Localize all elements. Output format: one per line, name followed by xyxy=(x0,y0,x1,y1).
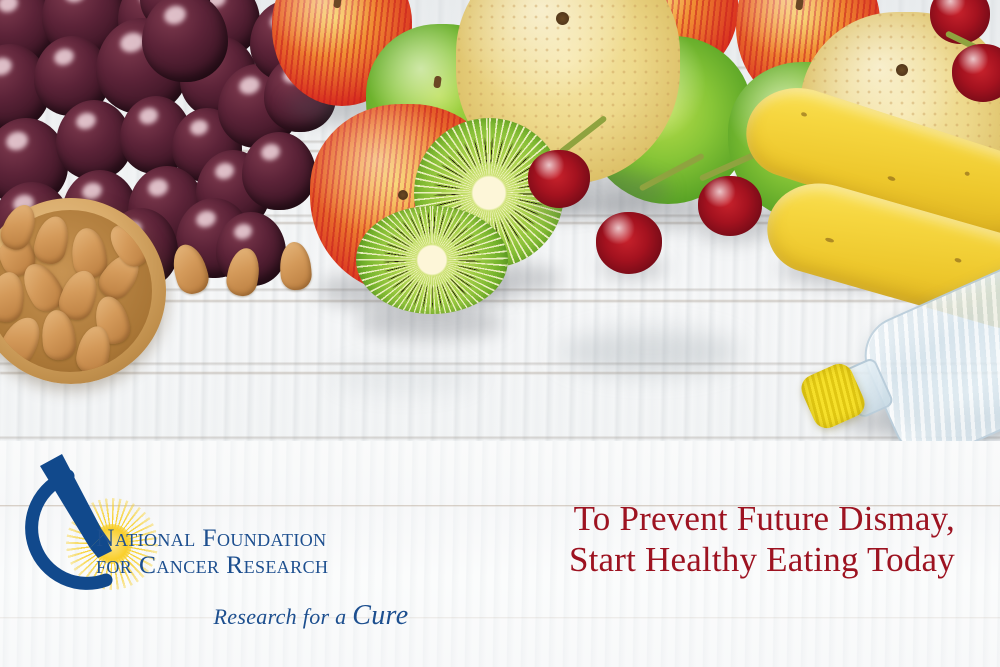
tagline-word-cure: Cure xyxy=(352,600,408,631)
logo-wordmark: National Foundation for Cancer Research xyxy=(96,524,416,578)
headline: To Prevent Future Dismay, Start Healthy … xyxy=(435,498,955,580)
surface-smudge xyxy=(560,330,740,374)
kiwi-half xyxy=(356,206,508,314)
banner-root: National Foundation for Cancer Research … xyxy=(0,0,1000,667)
tagline-prefix: Research for a xyxy=(214,604,353,629)
surface-smudge xyxy=(330,360,480,394)
headline-line-1: To Prevent Future Dismay, xyxy=(435,498,955,539)
wordmark-line-1: National Foundation xyxy=(96,524,416,551)
band-plank-seam xyxy=(0,617,1000,619)
hero-photo xyxy=(0,0,1000,441)
wordmark-line-2: for Cancer Research xyxy=(96,551,416,578)
headline-line-2: Start Healthy Eating Today xyxy=(435,539,955,580)
logo-tagline: Research for a Cure xyxy=(196,600,426,632)
